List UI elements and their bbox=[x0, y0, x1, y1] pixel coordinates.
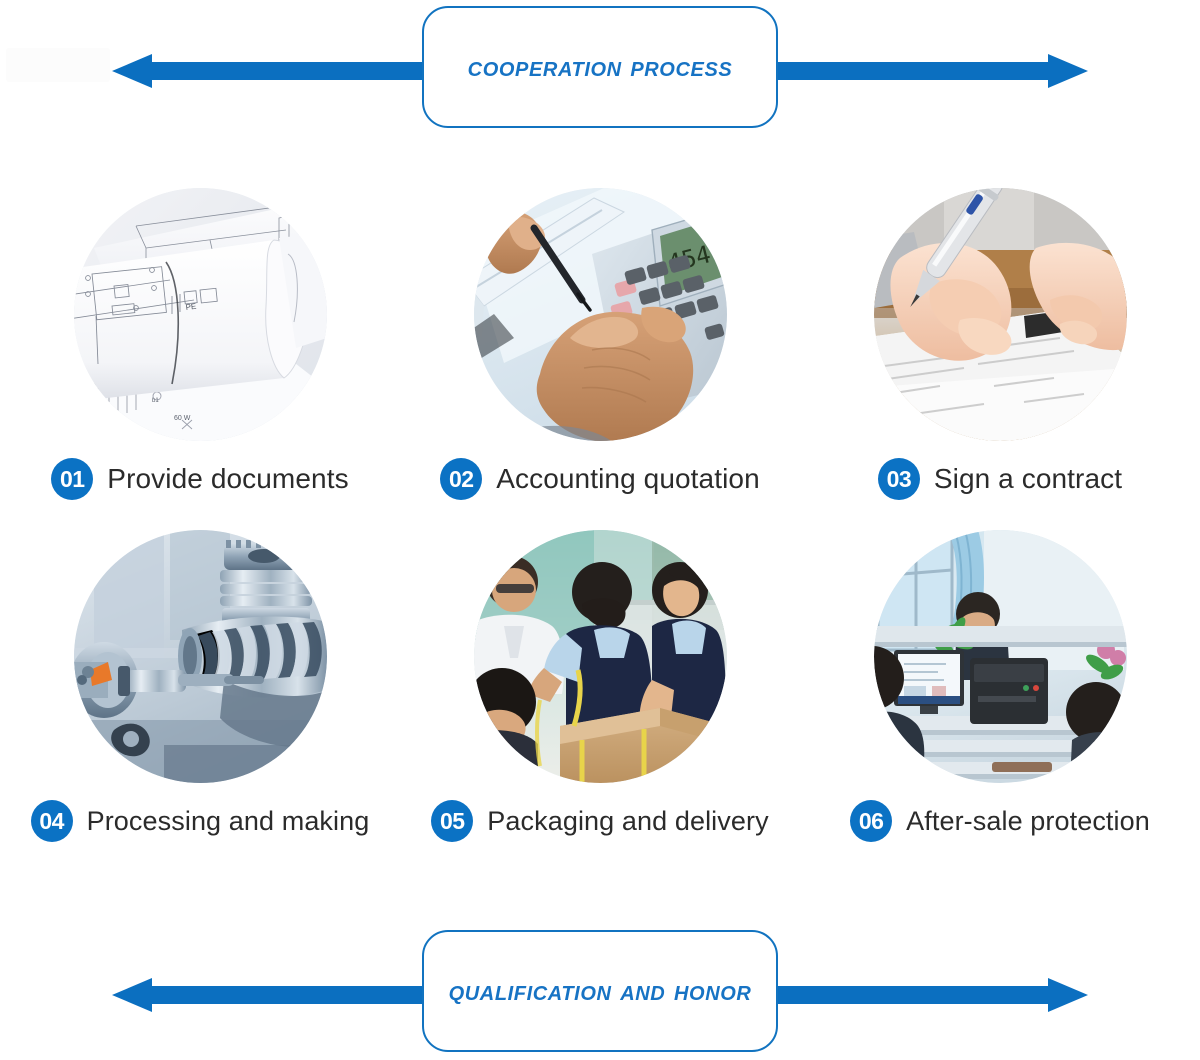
step-05-image bbox=[474, 530, 727, 783]
step-06-image bbox=[874, 530, 1127, 783]
step-03-badge: 03 bbox=[878, 458, 920, 500]
step-06-badge: 06 bbox=[850, 800, 892, 842]
process-steps: 60 W b1 bbox=[0, 180, 1200, 880]
bottom-banner-box: Qualification and honor bbox=[422, 930, 778, 1052]
step-01-label-group: 01 Provide documents bbox=[51, 458, 348, 500]
process-step-06[interactable]: 06 After-sale protection bbox=[800, 530, 1200, 875]
step-02-badge: 02 bbox=[440, 458, 482, 500]
bottom-banner-title: Qualification and honor bbox=[449, 975, 752, 1008]
step-06-label-group: 06 After-sale protection bbox=[850, 800, 1150, 842]
step-02-image: 454 bbox=[474, 188, 727, 441]
step-03-text: Sign a contract bbox=[934, 463, 1122, 495]
step-03-image bbox=[874, 188, 1127, 441]
process-step-05[interactable]: 05 Packaging and delivery bbox=[400, 530, 800, 875]
step-01-badge: 01 bbox=[51, 458, 93, 500]
process-steps-row-2: 04 Processing and making bbox=[0, 530, 1200, 875]
svg-text:60 W: 60 W bbox=[174, 415, 191, 422]
step-04-badge: 04 bbox=[31, 800, 73, 842]
step-05-text: Packaging and delivery bbox=[487, 806, 768, 837]
step-02-label-group: 02 Accounting quotation bbox=[440, 458, 760, 500]
cooperation-process-page: Cooperation process bbox=[0, 0, 1200, 1060]
process-step-02[interactable]: 454 bbox=[400, 188, 800, 533]
top-banner-title: Cooperation process bbox=[468, 51, 733, 84]
step-04-text: Processing and making bbox=[87, 806, 370, 837]
process-step-01[interactable]: 60 W b1 bbox=[0, 188, 400, 533]
step-03-label-group: 03 Sign a contract bbox=[878, 458, 1122, 500]
step-02-text: Accounting quotation bbox=[496, 463, 760, 495]
top-banner: Cooperation process bbox=[0, 6, 1200, 136]
process-step-03[interactable]: 03 Sign a contract bbox=[800, 188, 1200, 533]
step-04-image bbox=[74, 530, 327, 783]
svg-text:PE: PE bbox=[185, 302, 197, 312]
top-banner-box: Cooperation process bbox=[422, 6, 778, 128]
step-01-text: Provide documents bbox=[107, 463, 348, 495]
step-01-image: 60 W b1 bbox=[74, 188, 327, 441]
step-05-label-group: 05 Packaging and delivery bbox=[431, 800, 768, 842]
bottom-banner: Qualification and honor bbox=[0, 930, 1200, 1060]
step-06-text: After-sale protection bbox=[906, 806, 1150, 837]
svg-text:b1: b1 bbox=[152, 398, 159, 404]
step-04-label-group: 04 Processing and making bbox=[31, 800, 370, 842]
step-05-badge: 05 bbox=[431, 800, 473, 842]
process-step-04[interactable]: 04 Processing and making bbox=[0, 530, 400, 875]
process-steps-row-1: 60 W b1 bbox=[0, 188, 1200, 533]
